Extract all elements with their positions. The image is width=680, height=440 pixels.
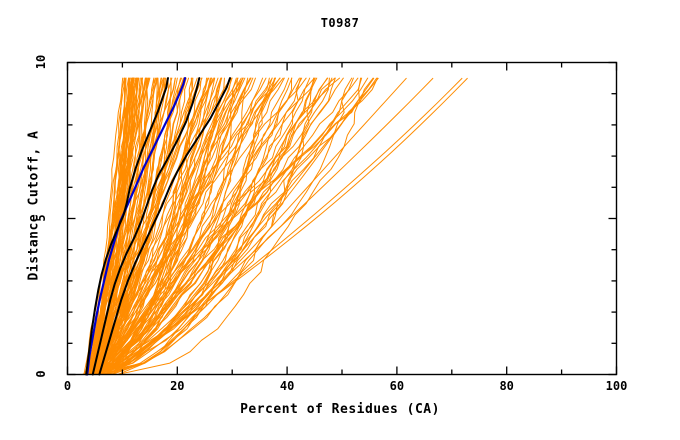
- y-tick-label: 10: [34, 47, 48, 77]
- y-tick-label: 5: [34, 203, 48, 233]
- x-tick-label: 20: [157, 379, 197, 393]
- x-tick-label: 80: [487, 379, 527, 393]
- plot-area: [0, 0, 680, 440]
- y-tick-label: 0: [34, 359, 48, 389]
- x-tick-label: 60: [377, 379, 417, 393]
- chart-figure: T0987 Percent of Residues (CA) Distance …: [0, 0, 680, 440]
- x-tick-label: 0: [48, 379, 88, 393]
- x-tick-label: 40: [267, 379, 307, 393]
- x-tick-label: 100: [597, 379, 637, 393]
- orange-curve-bundle: [82, 78, 467, 374]
